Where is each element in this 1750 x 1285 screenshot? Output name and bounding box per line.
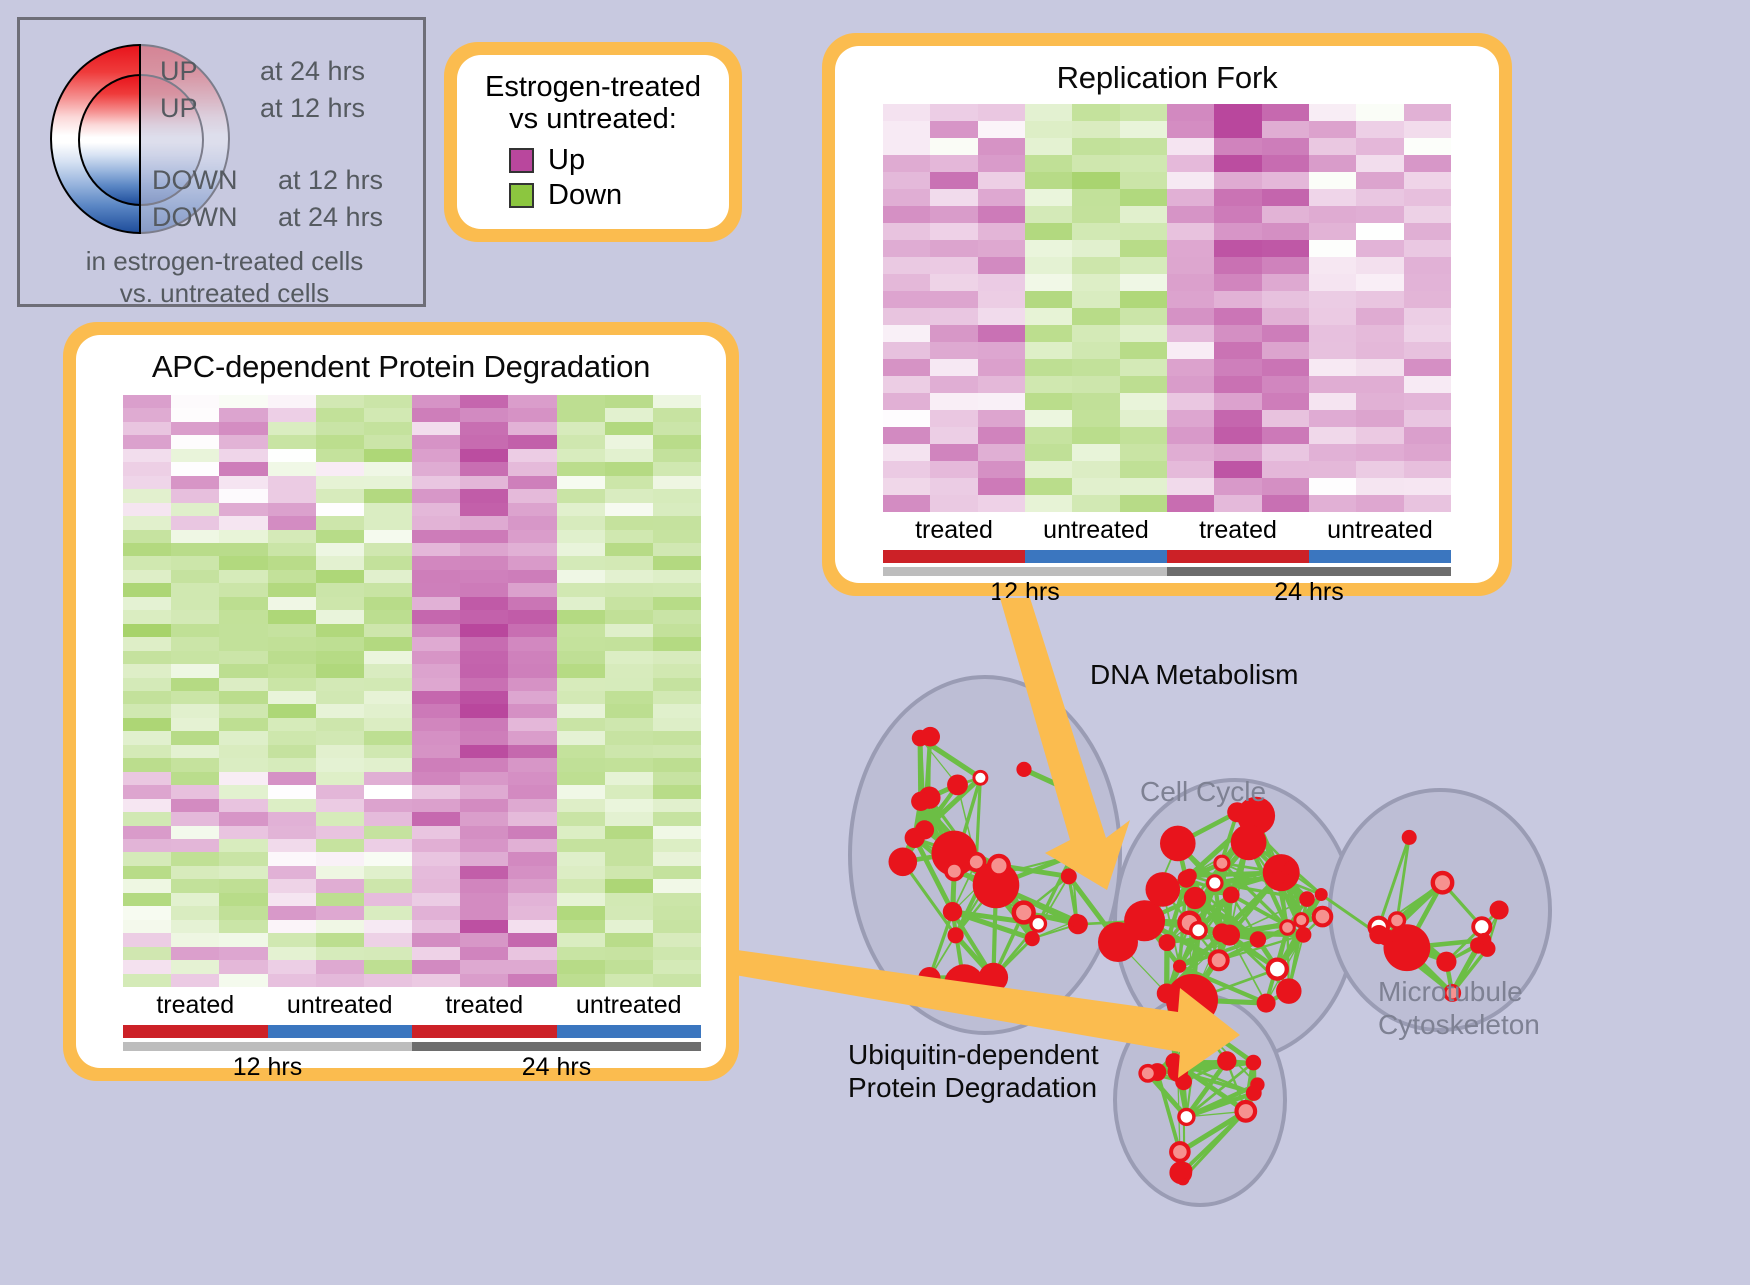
apc-degradation-title: APC-dependent Protein Degradation	[76, 335, 726, 385]
rf-bar-untreated-12	[1025, 550, 1167, 563]
network-node[interactable]	[1270, 870, 1285, 885]
network-node[interactable]	[1064, 848, 1080, 864]
cluster-label-cell-cycle: Cell Cycle	[1140, 775, 1266, 808]
apc-group-0: treated	[123, 991, 268, 1020]
network-node[interactable]	[1191, 923, 1206, 938]
replication-fork-title: Replication Fork	[835, 46, 1499, 96]
network-node[interactable]	[1176, 1162, 1192, 1178]
network-node[interactable]	[1208, 876, 1222, 890]
cluster-label-microtubule-cytoskeleton: Microtubule Cytoskeleton	[1378, 975, 1540, 1041]
network-node[interactable]	[1299, 891, 1315, 907]
network-node[interactable]	[1098, 922, 1138, 962]
apc-group-labels: treated untreated treated untreated	[123, 991, 701, 1020]
rf-group-1: untreated	[1025, 516, 1167, 545]
network-node[interactable]	[1296, 927, 1312, 943]
replication-fork-panel: Replication Fork treated untreated treat…	[822, 33, 1512, 596]
legend-item-down: Down	[509, 179, 729, 212]
scale-row-0-label: UP	[160, 56, 198, 87]
network-node[interactable]	[1315, 888, 1328, 901]
scale-row-3-label: DOWN	[152, 202, 237, 233]
network-node[interactable]	[1014, 903, 1034, 923]
replication-fork-group-labels: treated untreated treated untreated	[883, 516, 1451, 545]
scale-caption-line2: vs. untreated cells	[20, 278, 429, 309]
network-node[interactable]	[1237, 1102, 1256, 1121]
legend-item-up: Up	[509, 144, 729, 177]
scale-row-2-label: DOWN	[152, 165, 237, 196]
legend-title-line1: Estrogen-treated	[465, 71, 721, 103]
network-node[interactable]	[1186, 889, 1204, 907]
network-node[interactable]	[1278, 981, 1299, 1002]
apc-time-bar-24	[412, 1042, 701, 1051]
network-node[interactable]	[1025, 931, 1040, 946]
network-node[interactable]	[1281, 921, 1295, 935]
network-node[interactable]	[920, 969, 938, 987]
network-node[interactable]	[1436, 952, 1456, 972]
network-node[interactable]	[1061, 868, 1077, 884]
network-node[interactable]	[1070, 914, 1084, 928]
network-node[interactable]	[1433, 873, 1452, 892]
network-node[interactable]	[1183, 869, 1197, 883]
network-node[interactable]	[1179, 1109, 1194, 1124]
network-node[interactable]	[1175, 1073, 1192, 1090]
network-node[interactable]	[889, 848, 918, 877]
figure-canvas: UP at 24 hrs UP at 12 hrs DOWN at 12 hrs…	[0, 0, 1750, 1279]
network-node[interactable]	[1369, 925, 1388, 944]
network-node[interactable]	[968, 854, 985, 871]
network-node[interactable]	[1295, 914, 1308, 927]
apc-time-1: 24 hrs	[412, 1053, 701, 1082]
network-node[interactable]	[1160, 936, 1174, 950]
network-node[interactable]	[1140, 1066, 1155, 1081]
network-node[interactable]	[944, 964, 984, 1004]
network-node[interactable]	[1473, 918, 1490, 935]
network-node[interactable]	[920, 727, 940, 747]
network-node[interactable]	[1246, 1085, 1262, 1101]
network-node[interactable]	[1314, 908, 1332, 926]
replication-fork-heatmap	[883, 104, 1451, 512]
network-node[interactable]	[1215, 856, 1229, 870]
cluster-label-dna-metabolism: DNA Metabolism	[1090, 658, 1299, 691]
replication-fork-time-labels: 12 hrs 24 hrs	[883, 578, 1451, 607]
network-node[interactable]	[1402, 830, 1417, 845]
down-color-swatch	[509, 183, 534, 208]
network-node[interactable]	[948, 927, 964, 943]
network-node[interactable]	[1160, 826, 1196, 862]
rf-time-1: 24 hrs	[1167, 578, 1451, 607]
network-node[interactable]	[1390, 913, 1405, 928]
network-node[interactable]	[979, 963, 1008, 992]
rf-group-2: treated	[1167, 516, 1309, 545]
apc-degradation-heatmap	[123, 395, 701, 987]
legend-item-down-label: Down	[548, 179, 622, 212]
network-node[interactable]	[974, 771, 987, 784]
apc-time-labels: 12 hrs 24 hrs	[123, 1053, 701, 1082]
network-node[interactable]	[1257, 994, 1276, 1013]
rf-time-bar-24	[1167, 567, 1451, 576]
network-node[interactable]	[911, 792, 930, 811]
network-node[interactable]	[1167, 1055, 1181, 1069]
legend-item-up-label: Up	[548, 144, 585, 177]
up-color-swatch	[509, 148, 534, 173]
network-node[interactable]	[1210, 951, 1228, 969]
scale-row-1-label: UP	[160, 93, 198, 124]
scale-caption-line1: in estrogen-treated cells	[20, 246, 429, 277]
rf-group-3: untreated	[1309, 516, 1451, 545]
rf-bar-treated-12	[883, 550, 1025, 563]
network-node[interactable]	[1173, 960, 1186, 973]
network-node[interactable]	[1223, 887, 1240, 904]
network-node[interactable]	[1284, 861, 1298, 875]
apc-group-3: untreated	[557, 991, 702, 1020]
network-node[interactable]	[1166, 974, 1218, 1026]
network-node[interactable]	[1171, 1143, 1189, 1161]
network-node[interactable]	[1146, 872, 1181, 907]
rf-bar-untreated-24	[1309, 550, 1451, 563]
replication-fork-group-bar	[883, 550, 1451, 563]
network-node[interactable]	[905, 828, 925, 848]
rf-time-0: 12 hrs	[883, 578, 1167, 607]
apc-group-bar	[123, 1025, 701, 1038]
apc-group-1: untreated	[268, 991, 413, 1020]
rf-group-0: treated	[883, 516, 1025, 545]
network-node[interactable]	[1067, 784, 1085, 802]
network-node[interactable]	[1217, 1051, 1236, 1070]
network-node[interactable]	[946, 863, 963, 880]
apc-bar-untreated-24	[557, 1025, 702, 1038]
scale-row-0-time: at 24 hrs	[260, 56, 365, 87]
apc-group-2: treated	[412, 991, 557, 1020]
cluster-label-ubiquitin-degradation: Ubiquitin-dependent Protein Degradation	[848, 1038, 1099, 1104]
apc-time-bar-12	[123, 1042, 412, 1051]
network-node[interactable]	[947, 775, 968, 796]
legend-title-line2: vs untreated:	[465, 103, 721, 135]
color-scale-legend: UP at 24 hrs UP at 12 hrs DOWN at 12 hrs…	[17, 17, 426, 307]
rf-time-bar-12	[883, 567, 1167, 576]
apc-degradation-panel: APC-dependent Protein Degradation treate…	[63, 322, 739, 1081]
network-node[interactable]	[1231, 824, 1267, 860]
apc-bar-treated-12	[123, 1025, 268, 1038]
apc-time-0: 12 hrs	[123, 1053, 412, 1082]
apc-bar-untreated-12	[268, 1025, 413, 1038]
network-node[interactable]	[1213, 923, 1232, 942]
apc-bar-treated-24	[412, 1025, 557, 1038]
network-node[interactable]	[1250, 931, 1266, 947]
heatmap-legend-panel: Estrogen-treated vs untreated: Up Down	[444, 42, 742, 242]
apc-time-bar	[123, 1042, 701, 1051]
network-node[interactable]	[1491, 902, 1507, 918]
network-node[interactable]	[1246, 1055, 1262, 1071]
network-node[interactable]	[989, 856, 1009, 876]
scale-row-1-time: at 12 hrs	[260, 93, 365, 124]
pathway-network-diagram: DNA Metabolism Cell Cycle Microtubule Cy…	[800, 620, 1750, 1280]
rf-bar-treated-24	[1167, 550, 1309, 563]
network-node[interactable]	[1480, 942, 1494, 956]
network-svg	[800, 620, 1750, 1280]
network-node[interactable]	[943, 902, 962, 921]
scale-row-3-time: at 24 hrs	[278, 202, 383, 233]
replication-fork-time-bar	[883, 567, 1451, 576]
network-node[interactable]	[1016, 762, 1031, 777]
network-node[interactable]	[1268, 960, 1287, 979]
scale-row-2-time: at 12 hrs	[278, 165, 383, 196]
